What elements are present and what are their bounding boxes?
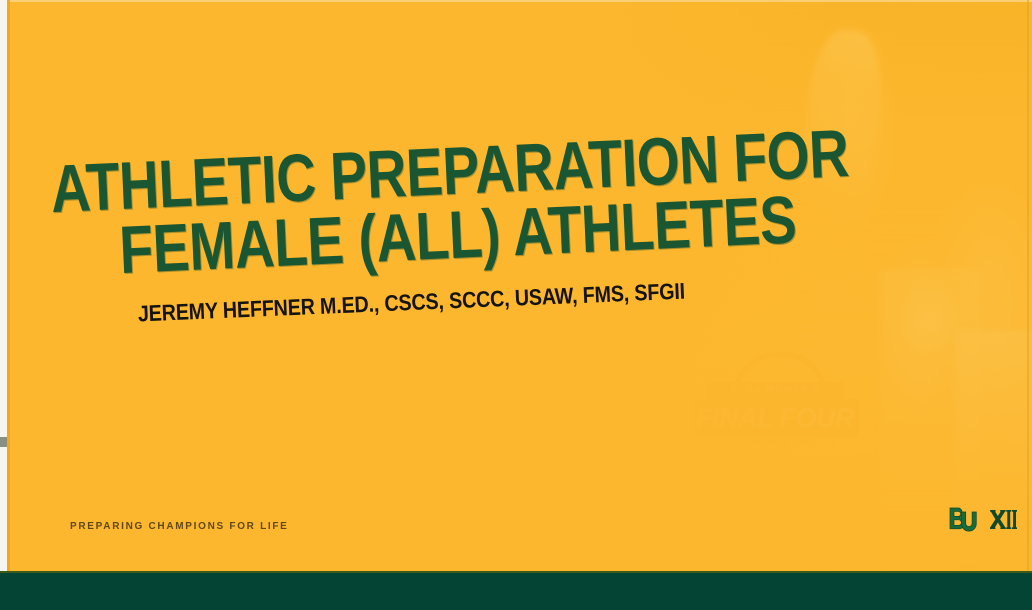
slide-title: ATHLETIC PREPARATION FOR FEMALE (ALL) AT… — [33, 126, 738, 279]
slide-left-edge — [0, 0, 7, 571]
slide-left-edge-line — [7, 0, 10, 571]
logo-lockup — [948, 506, 1017, 532]
slide-right-edge-line — [1027, 0, 1029, 571]
slide-left-edge-artifact — [0, 437, 7, 447]
slide-top-edge — [0, 0, 1032, 2]
presentation-slide: NCAA WOMEN'S FINAL FOUR TAMPA BAY 2019 A… — [0, 0, 1032, 610]
big-twelve-xii-logo-icon — [990, 510, 1017, 529]
baylor-bu-logo-icon — [948, 506, 981, 532]
slide-tagline: PREPARING CHAMPIONS FOR LIFE — [70, 521, 289, 532]
slide-bottom-band — [0, 571, 1032, 610]
